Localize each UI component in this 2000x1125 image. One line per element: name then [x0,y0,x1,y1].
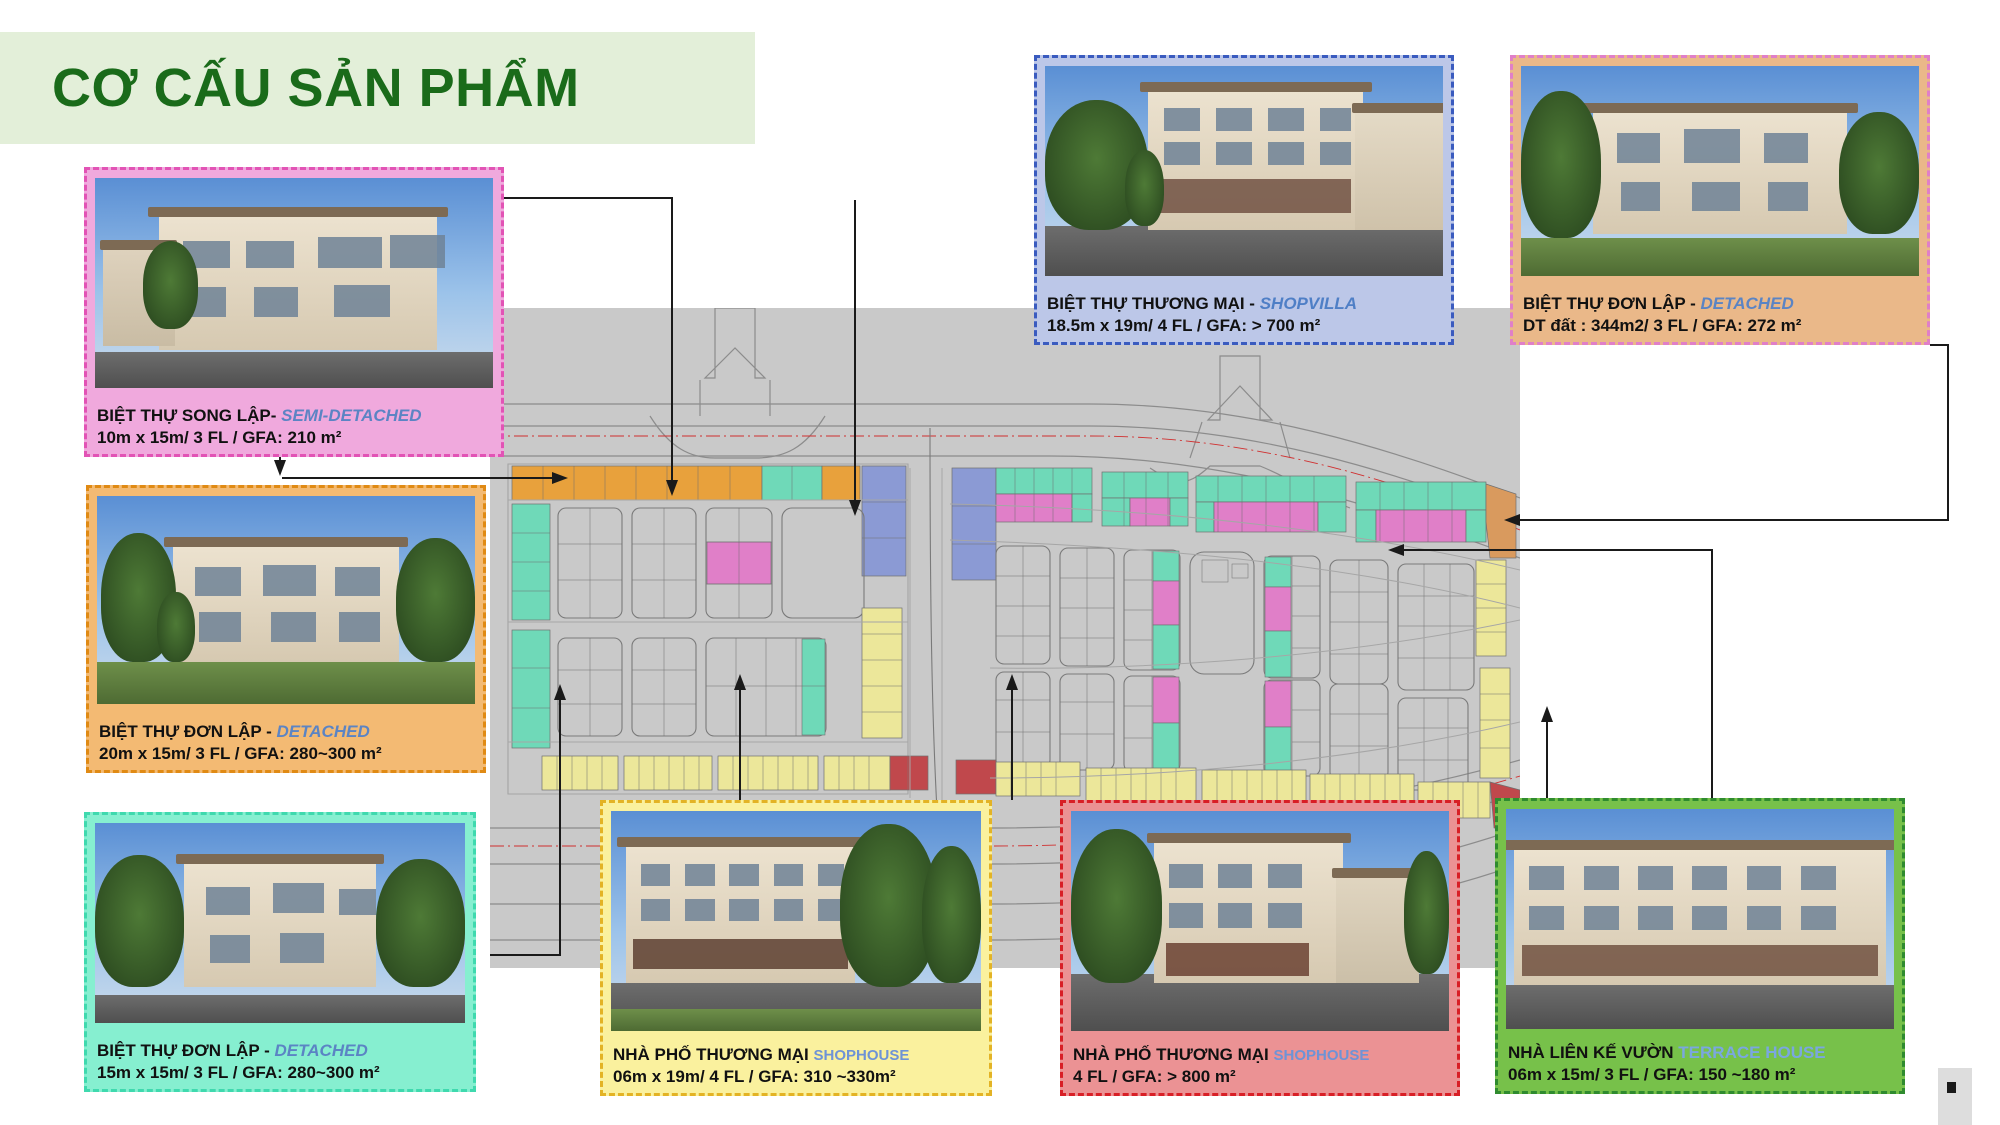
detached-15x15-photo [95,823,465,1023]
card-title-vi: NHÀ LIÊN KẾ VƯỜN [1508,1043,1674,1062]
card-title-vi: BIỆT THỰ ĐƠN LẬP - [97,1041,270,1060]
shophouse-6x19-photo [611,811,981,1031]
card-title-en: SHOPVILLA [1260,294,1357,313]
semi-detached-photo [95,178,493,388]
card-spec: DT đất : 344m2/ 3 FL / GFA: 272 m² [1523,316,1919,336]
card-title-vi: NHÀ PHỐ THƯƠNG MẠI [1073,1045,1269,1064]
detached-344-photo [1521,66,1919,276]
detached-20x15-photo [97,496,475,704]
shophouse-6x19-caption: NHÀ PHỐ THƯƠNG MẠI SHOPHOUSE 06m x 19m/ … [613,1045,981,1087]
detached-344-caption: BIỆT THỰ ĐƠN LẬP - DETACHED DT đất : 344… [1523,294,1919,336]
product-card-shophouse-800[interactable]: NHÀ PHỐ THƯƠNG MẠI SHOPHOUSE 4 FL / GFA:… [1060,800,1460,1096]
page-title-banner: CƠ CẤU SẢN PHẨM [0,32,755,144]
shophouse-800-photo [1071,811,1449,1031]
shopvilla-photo [1045,66,1443,276]
card-title-vi: NHÀ PHỐ THƯƠNG MẠI [613,1045,809,1064]
card-title-en: SHOPHOUSE [814,1047,910,1064]
product-card-shophouse-6x19[interactable]: NHÀ PHỐ THƯƠNG MẠI SHOPHOUSE 06m x 19m/ … [600,800,992,1096]
shopvilla-caption: BIỆT THỰ THƯƠNG MẠI - SHOPVILLA 18.5m x … [1047,294,1443,336]
product-card-semi-detached[interactable]: BIỆT THỰ SONG LẬP- SEMI-DETACHED 10m x 1… [84,167,504,457]
card-title-vi: BIỆT THỰ ĐƠN LẬP - [99,722,272,741]
card-title-en: DETACHED [1701,294,1794,313]
product-card-detached-15x15[interactable]: BIỆT THỰ ĐƠN LẬP - DETACHED 15m x 15m/ 3… [84,812,476,1092]
card-title-en: SHOPHOUSE [1274,1047,1370,1064]
card-spec: 18.5m x 19m/ 4 FL / GFA: > 700 m² [1047,316,1443,336]
card-title-en: DETACHED [275,1041,368,1060]
card-spec: 20m x 15m/ 3 FL / GFA: 280~300 m² [99,744,475,764]
detached-15x15-caption: BIỆT THỰ ĐƠN LẬP - DETACHED 15m x 15m/ 3… [97,1041,465,1083]
card-title-en: SEMI-DETACHED [281,406,421,425]
product-card-detached-20x15[interactable]: BIỆT THỰ ĐƠN LẬP - DETACHED 20m x 15m/ 3… [86,485,486,773]
card-title-vi: BIỆT THỰ ĐƠN LẬP - [1523,294,1696,313]
card-title-vi: BIỆT THỰ THƯƠNG MẠI - [1047,294,1255,313]
product-card-terrace-house[interactable]: NHÀ LIÊN KẾ VƯỜN TERRACE HOUSE 06m x 15m… [1495,798,1905,1094]
card-spec: 4 FL / GFA: > 800 m² [1073,1067,1449,1087]
card-title-en: TERRACE HOUSE [1678,1043,1825,1062]
card-spec: 15m x 15m/ 3 FL / GFA: 280~300 m² [97,1063,465,1083]
detached-20x15-caption: BIỆT THỰ ĐƠN LẬP - DETACHED 20m x 15m/ 3… [99,722,475,764]
card-spec: 06m x 15m/ 3 FL / GFA: 150 ~180 m² [1508,1065,1894,1085]
card-title-vi: BIỆT THỰ SONG LẬP- [97,406,276,425]
corner-backdrop [1938,1068,1972,1125]
shophouse-800-caption: NHÀ PHỐ THƯƠNG MẠI SHOPHOUSE 4 FL / GFA:… [1073,1045,1449,1087]
card-title-en: DETACHED [277,722,370,741]
product-card-shopvilla[interactable]: BIỆT THỰ THƯƠNG MẠI - SHOPVILLA 18.5m x … [1034,55,1454,345]
corner-marker-icon [1947,1082,1956,1093]
page-title: CƠ CẤU SẢN PHẨM [52,61,580,115]
semi-detached-caption: BIỆT THỰ SONG LẬP- SEMI-DETACHED 10m x 1… [97,406,493,448]
terrace-house-caption: NHÀ LIÊN KẾ VƯỜN TERRACE HOUSE 06m x 15m… [1508,1043,1894,1085]
card-spec: 10m x 15m/ 3 FL / GFA: 210 m² [97,428,493,448]
card-spec: 06m x 19m/ 4 FL / GFA: 310 ~330m² [613,1067,981,1087]
product-card-detached-344[interactable]: BIỆT THỰ ĐƠN LẬP - DETACHED DT đất : 344… [1510,55,1930,345]
terrace-house-photo [1506,809,1894,1029]
